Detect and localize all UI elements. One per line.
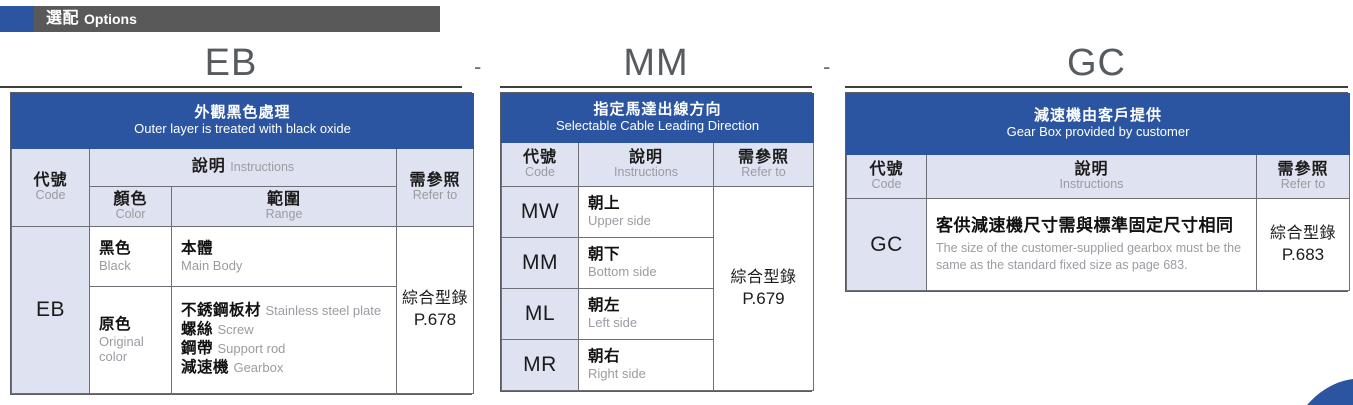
table-title-cell: 減速機由客戶提供 Gear Box provided by customer [847,94,1350,155]
column-header-range: 範圍 Range [172,186,397,226]
column-header-instructions: 說明 Instructions [927,155,1257,199]
column-header-instructions: 說明 Instructions [90,148,397,186]
cell-color-black-cn: 黑色 [99,240,162,258]
table-title-cell: 外觀黑色處理 Outer layer is treated with black… [12,94,474,149]
cell-direction-left: 朝左 Left side [579,289,714,340]
refer-catalog-label: 綜合型錄 [397,289,473,309]
rule-mm [500,86,812,88]
table-row-title: 減速機由客戶提供 Gear Box provided by customer [847,94,1350,155]
table-title-cn: 指定馬達出線方向 [506,101,809,118]
direction-en: Right side [588,366,704,381]
page-corner-mark [1307,379,1353,405]
column-header-instructions-cn: 說明 [192,158,226,175]
code-separator-2: - [823,56,830,78]
code-heading-mm: MM [500,44,812,82]
header-title-cn: 選配 [46,11,79,27]
table-mm: 指定馬達出線方向 Selectable Cable Leading Direct… [500,92,812,392]
column-header-refer-en: Refer to [716,166,811,180]
range-item-en: Support rod [217,341,285,356]
column-header-code-cn: 代號 [14,172,87,190]
direction-cn: 朝左 [588,297,704,315]
column-header-code: 代號 Code [12,148,90,226]
range-item: 不銹鋼板材 Stainless steel plate [181,302,387,321]
refer-page-number: P.679 [714,288,813,309]
column-header-instructions-en: Instructions [929,178,1254,192]
range-item: 減速機 Gearbox [181,359,387,378]
table-gc: 減速機由客戶提供 Gear Box provided by customer 代… [845,92,1348,292]
column-header-color-cn: 顏色 [92,191,169,209]
column-header-range-en: Range [174,208,394,222]
cell-color-original-cn: 原色 [99,316,162,334]
gearbox-description-en: The size of the customer-supplied gearbo… [936,240,1247,274]
table-row: GC 客供減速機尺寸需與標準固定尺寸相同 The size of the cus… [847,199,1350,291]
refer-page-number: P.678 [397,309,473,330]
cell-code-mw: MW [502,187,579,238]
header-accent-square [0,6,34,32]
cell-code-mm: MM [502,238,579,289]
column-header-refer-cn: 需參照 [1259,161,1347,179]
direction-cn: 朝上 [588,195,704,213]
range-item-cn: 減速機 [181,359,229,376]
column-header-refer-cn: 需參照 [716,149,811,167]
column-header-refer: 需參照 Refer to [397,148,474,226]
cell-code-gc: GC [847,199,927,291]
cell-color-original: 原色 Original color [90,286,172,393]
table-row: MW 朝上 Upper side 綜合型錄 P.679 [502,187,814,238]
options-page: 選配 Options EB - MM - GC 外觀黑色處理 Outer lay… [0,0,1353,405]
column-header-code-cn: 代號 [849,161,924,179]
rule-eb [0,86,462,88]
column-header-color: 顏色 Color [90,186,172,226]
cell-gearbox-description: 客供減速機尺寸需與標準固定尺寸相同 The size of the custom… [927,199,1257,291]
column-header-refer-en: Refer to [399,189,471,203]
header-title-en: Options [84,12,137,26]
column-header-refer: 需參照 Refer to [1257,155,1350,199]
direction-en: Bottom side [588,264,704,279]
cell-refer-mm: 綜合型錄 P.679 [714,187,814,391]
table-row-header-1: 代號 Code 說明 Instructions 需參照 Refer to [12,148,474,186]
cell-range-main-body: 本體 Main Body [172,226,397,286]
column-header-instructions-cn: 說明 [929,161,1254,179]
cell-color-black: 黑色 Black [90,226,172,286]
cell-code-mr: MR [502,340,579,391]
table-row-header: 代號 Code 說明 Instructions 需參照 Refer to [847,155,1350,199]
column-header-color-en: Color [92,208,169,222]
table-title-cn: 外觀黑色處理 [16,104,469,121]
table-title-cn: 減速機由客戶提供 [851,107,1345,124]
range-item-en: Gearbox [233,360,283,375]
table-row-title: 指定馬達出線方向 Selectable Cable Leading Direct… [502,94,814,143]
column-header-code: 代號 Code [502,143,579,187]
cell-refer-gc: 綜合型錄 P.683 [1257,199,1350,291]
range-item: 螺絲 Screw [181,321,387,340]
column-header-refer-cn: 需參照 [399,172,471,190]
range-item-en: Screw [217,322,253,337]
column-header-code-en: Code [849,178,924,192]
column-header-code-en: Code [14,189,87,203]
table-row-header: 代號 Code 說明 Instructions 需參照 Refer to [502,143,814,187]
range-item-cn: 螺絲 [181,321,213,338]
column-header-instructions: 說明 Instructions [579,143,714,187]
table-title-cell: 指定馬達出線方向 Selectable Cable Leading Direct… [502,94,814,143]
range-item-cn: 不銹鋼板材 [181,302,261,319]
range-item-cn: 本體 [181,240,387,258]
column-header-refer-en: Refer to [1259,178,1347,192]
table-title-en: Gear Box provided by customer [851,125,1345,140]
column-header-instructions-en: Instructions [230,160,294,174]
table-row: EB 黑色 Black 本體 Main Body 綜合型錄 P.678 [12,226,474,286]
cell-direction-bottom: 朝下 Bottom side [579,238,714,289]
cell-refer-eb: 綜合型錄 P.678 [397,226,474,393]
cell-range-original: 不銹鋼板材 Stainless steel plate 螺絲 Screw 鋼帶 … [172,286,397,393]
code-heading-gc: GC [845,44,1348,82]
refer-catalog-label: 綜合型錄 [1257,224,1349,244]
column-header-code-cn: 代號 [504,149,576,167]
direction-cn: 朝下 [588,246,704,264]
column-header-code: 代號 Code [847,155,927,199]
cell-color-black-en: Black [99,258,162,273]
column-header-instructions-cn: 說明 [581,149,711,167]
direction-cn: 朝右 [588,348,704,366]
refer-page-number: P.683 [1257,244,1349,265]
refer-catalog-label: 綜合型錄 [714,268,813,288]
table-row-title: 外觀黑色處理 Outer layer is treated with black… [12,94,474,149]
table-eb: 外觀黑色處理 Outer layer is treated with black… [10,92,472,395]
cell-direction-right: 朝右 Right side [579,340,714,391]
cell-color-original-en: Original color [99,334,162,365]
rule-gc [845,86,1348,88]
range-item-en: Main Body [181,258,387,273]
range-item-cn: 鋼帶 [181,340,213,357]
table-title-en: Outer layer is treated with black oxide [16,122,469,137]
range-item: 鋼帶 Support rod [181,340,387,359]
range-item-en: Stainless steel plate [265,303,381,318]
cell-code-eb: EB [12,226,90,393]
direction-en: Upper side [588,213,704,228]
cell-code-ml: ML [502,289,579,340]
column-header-refer: 需參照 Refer to [714,143,814,187]
column-header-range-cn: 範圍 [174,191,394,209]
header-strip: 選配 Options [34,6,440,32]
cell-direction-upper: 朝上 Upper side [579,187,714,238]
code-separator-1: - [474,56,481,78]
column-header-instructions-en: Instructions [581,166,711,180]
section-header: 選配 Options [0,6,440,32]
table-title-en: Selectable Cable Leading Direction [506,119,809,134]
code-heading-eb: EB [0,44,462,82]
gearbox-description-cn: 客供減速機尺寸需與標準固定尺寸相同 [936,216,1247,236]
column-header-code-en: Code [504,166,576,180]
direction-en: Left side [588,315,704,330]
